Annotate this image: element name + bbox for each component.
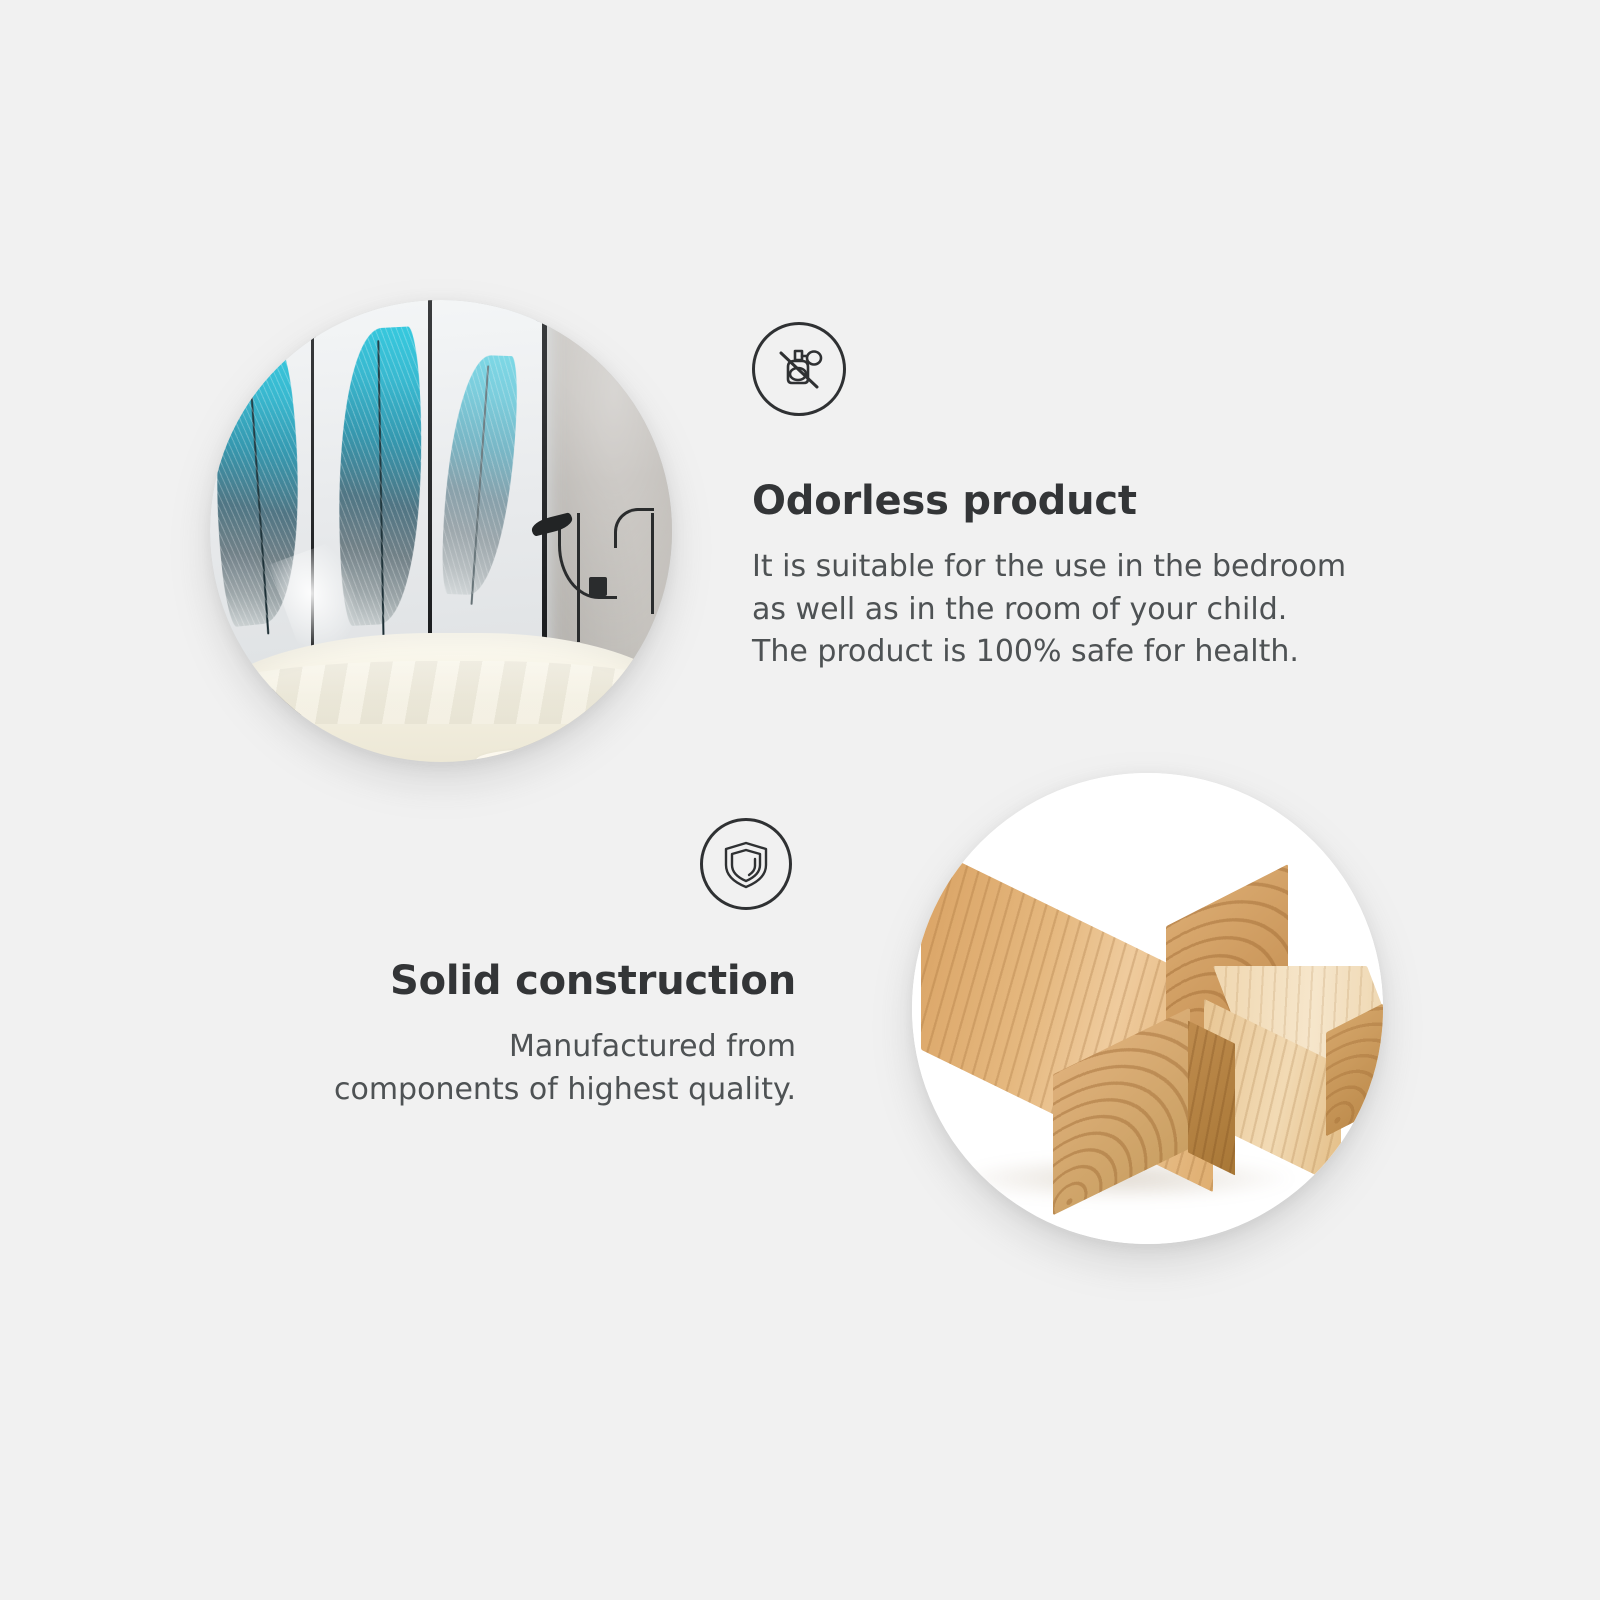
odorless-body-line-1: It is suitable for the use in the bedroo… <box>752 546 1432 589</box>
wall-sconce <box>589 577 607 595</box>
wall-lamp-pole <box>651 513 654 615</box>
bedroom-scene <box>210 300 672 762</box>
solid-feature-text: Solid construction Manufactured from com… <box>200 958 796 1111</box>
panel-edge <box>542 300 547 679</box>
solid-body-line-1: Manufactured from <box>200 1026 796 1069</box>
shield-glyph <box>717 835 775 893</box>
wood-cube-side-face <box>1188 1021 1235 1176</box>
wood-scene <box>912 773 1383 1244</box>
pillow <box>526 738 672 762</box>
no-perfume-icon <box>752 322 846 416</box>
floor-lamp-pole <box>577 513 580 642</box>
promo-page: Odorless product It is suitable for the … <box>0 0 1600 1600</box>
shield-icon <box>700 818 792 910</box>
no-perfume-glyph <box>767 337 831 401</box>
bedroom-feather-canvas-photo <box>210 300 672 762</box>
odorless-body-line-3: The product is 100% safe for health. <box>752 631 1432 674</box>
solid-title: Solid construction <box>200 958 796 1004</box>
odorless-body: It is suitable for the use in the bedroo… <box>752 546 1432 674</box>
solid-body-line-2: components of highest quality. <box>200 1069 796 1112</box>
odorless-title: Odorless product <box>752 478 1432 524</box>
solid-body: Manufactured from components of highest … <box>200 1026 796 1111</box>
wooden-blocks-photo <box>912 773 1383 1244</box>
odorless-body-line-2: as well as in the room of your child. <box>752 589 1432 632</box>
odorless-feature-text: Odorless product It is suitable for the … <box>752 478 1432 674</box>
